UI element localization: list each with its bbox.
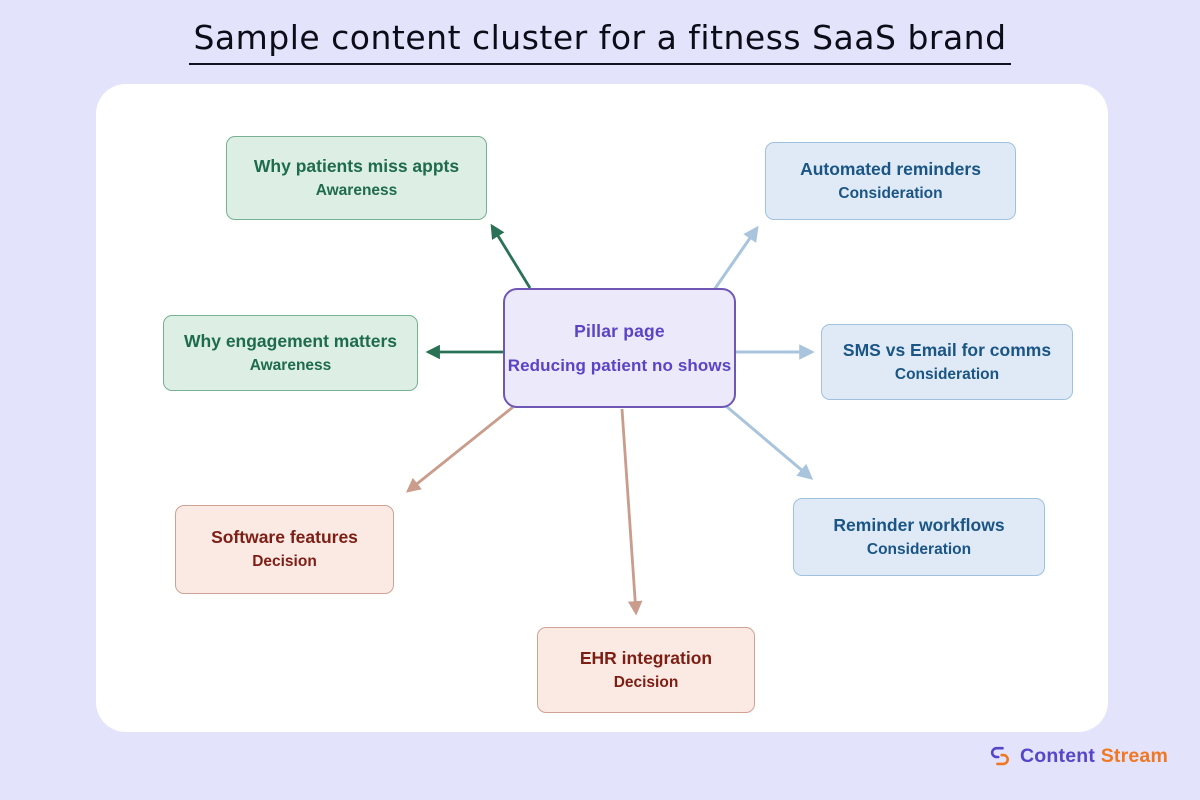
node-stage: Awareness <box>250 356 332 376</box>
node-reminder-workflows[interactable]: Reminder workflows Consideration <box>793 498 1045 576</box>
node-stage: Consideration <box>867 540 971 560</box>
node-title: Reminder workflows <box>833 514 1004 537</box>
node-sms-vs-email-for-comms[interactable]: SMS vs Email for comms Consideration <box>821 324 1073 400</box>
node-title: Software features <box>211 526 358 549</box>
page-title-text: Sample content cluster for a fitness Saa… <box>189 18 1010 65</box>
node-stage: Decision <box>614 673 679 693</box>
node-title: Why engagement matters <box>184 330 397 353</box>
node-stage: Consideration <box>838 184 942 204</box>
node-why-engagement-matters[interactable]: Why engagement matters Awareness <box>163 315 418 391</box>
content-stream-logo-icon <box>988 744 1012 768</box>
node-pillar-page[interactable]: Pillar page Reducing patient no shows <box>503 288 736 408</box>
brand-name-secondary: Stream <box>1101 745 1168 767</box>
brand-name-primary: Content <box>1020 745 1095 767</box>
node-title: SMS vs Email for comms <box>843 339 1051 362</box>
node-title: Automated reminders <box>800 158 981 181</box>
pillar-title: Pillar page <box>574 321 665 342</box>
node-stage: Decision <box>252 552 317 572</box>
page-title: Sample content cluster for a fitness Saa… <box>0 18 1200 65</box>
pillar-subtitle: Reducing patient no shows <box>508 356 732 376</box>
node-software-features[interactable]: Software features Decision <box>175 505 394 594</box>
node-stage: Consideration <box>895 365 999 385</box>
node-why-patients-miss-appts[interactable]: Why patients miss appts Awareness <box>226 136 487 220</box>
node-automated-reminders[interactable]: Automated reminders Consideration <box>765 142 1016 220</box>
node-title: Why patients miss appts <box>254 155 459 178</box>
node-stage: Awareness <box>316 181 398 201</box>
brand-logo[interactable]: Content Stream <box>988 744 1168 768</box>
node-title: EHR integration <box>580 647 712 670</box>
node-ehr-integration[interactable]: EHR integration Decision <box>537 627 755 713</box>
